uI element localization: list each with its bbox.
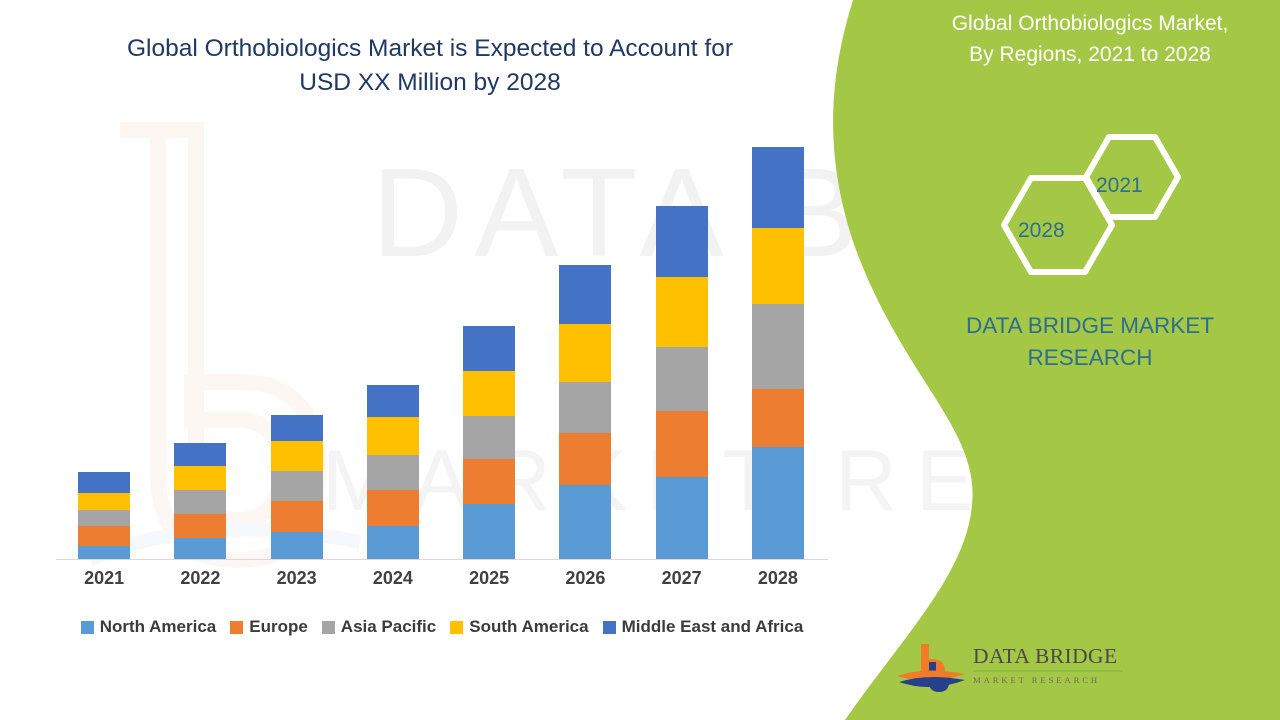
bar-segment (271, 415, 323, 440)
bar-segment (174, 443, 226, 466)
x-axis-labels: 20212022202320242025202620272028 (56, 568, 828, 598)
bar-segment (656, 347, 708, 411)
chart-title: Global Orthobiologics Market is Expected… (40, 32, 820, 100)
stacked-bar[interactable] (752, 147, 804, 560)
hexagon-group: 2021 2028 (900, 130, 1280, 285)
brand-name-text: DATA BRIDGE MARKET RESEARCH (900, 310, 1280, 374)
legend-swatch-icon (322, 621, 335, 634)
x-axis-tick-label: 2028 (738, 568, 818, 589)
legend-label: North America (100, 617, 217, 637)
bar-segment (367, 526, 419, 560)
legend-swatch-icon (81, 621, 94, 634)
x-axis-tick-label: 2025 (449, 568, 529, 589)
bar-segment (367, 455, 419, 490)
bar-segment (78, 546, 130, 560)
bar-segment (174, 514, 226, 538)
bar-segment (752, 389, 804, 448)
bar-segment (656, 477, 708, 560)
bar-segment (559, 485, 611, 560)
bar-segment (78, 526, 130, 546)
right-panel-title-line2: By Regions, 2021 to 2028 (900, 39, 1280, 70)
right-panel-title: Global Orthobiologics Market, By Regions… (900, 8, 1280, 70)
legend-label: South America (469, 617, 588, 637)
legend-swatch-icon (603, 621, 616, 634)
bar-segment (78, 510, 130, 525)
bar-segment (463, 416, 515, 459)
bar-segment (271, 501, 323, 532)
bar-segment (271, 532, 323, 560)
logo-mark-icon (895, 640, 967, 698)
logo-tagline: MARKET RESEARCH (973, 675, 1123, 685)
stacked-bar[interactable] (463, 326, 515, 560)
chart-legend: North AmericaEuropeAsia PacificSouth Ame… (56, 614, 828, 640)
brand-name-line1: DATA BRIDGE MARKET (966, 313, 1214, 338)
stacked-bar[interactable] (367, 385, 419, 560)
chart-title-line2: USD XX Million by 2028 (40, 66, 820, 100)
bar-segment (656, 411, 708, 477)
x-axis-tick-label: 2026 (545, 568, 625, 589)
bar-segment (559, 433, 611, 485)
bar-segment (174, 490, 226, 513)
legend-label: Middle East and Africa (622, 617, 804, 637)
brand-name-line2: RESEARCH (900, 342, 1280, 374)
hexagon-2028-label: 2028 (1018, 219, 1065, 243)
stacked-bar[interactable] (271, 415, 323, 560)
bar-segment (656, 277, 708, 347)
x-axis-tick-label: 2021 (64, 568, 144, 589)
bar-segment (752, 447, 804, 560)
bar-segment (559, 382, 611, 433)
x-axis-tick-label: 2027 (642, 568, 722, 589)
legend-label: Asia Pacific (341, 617, 436, 637)
bar-segment (78, 493, 130, 511)
bar-segment (367, 385, 419, 417)
hexagon-2021-label: 2021 (1096, 174, 1143, 198)
legend-item[interactable]: Asia Pacific (322, 617, 436, 637)
bar-segment (271, 471, 323, 502)
stacked-bar[interactable] (78, 472, 130, 560)
bar-segment (367, 417, 419, 455)
x-axis-tick-label: 2022 (160, 568, 240, 589)
stacked-bar[interactable] (656, 206, 708, 560)
bar-segment (752, 147, 804, 229)
bar-segment (463, 459, 515, 503)
bar-segment (367, 490, 419, 525)
bar-segment (752, 304, 804, 389)
bar-segment (174, 538, 226, 560)
bar-segment (463, 371, 515, 416)
logo-name: DATA BRIDGE (973, 644, 1123, 669)
stacked-bar-plot (56, 140, 826, 560)
bar-segment (78, 472, 130, 493)
right-panel-title-line1: Global Orthobiologics Market, (952, 12, 1229, 35)
logo-underline (973, 670, 1123, 672)
bar-segment (656, 206, 708, 277)
legend-item[interactable]: Middle East and Africa (603, 617, 804, 637)
bar-segment (174, 466, 226, 490)
data-bridge-logo: DATA BRIDGE MARKET RESEARCH (895, 638, 1125, 700)
x-axis-line (56, 559, 828, 560)
legend-item[interactable]: North America (81, 617, 217, 637)
x-axis-tick-label: 2023 (257, 568, 337, 589)
bar-segment (752, 228, 804, 303)
legend-label: Europe (249, 617, 308, 637)
bar-segment (559, 324, 611, 383)
stacked-bar[interactable] (559, 265, 611, 560)
stacked-bar[interactable] (174, 443, 226, 560)
legend-item[interactable]: Europe (230, 617, 308, 637)
legend-swatch-icon (450, 621, 463, 634)
chart-panel: Global Orthobiologics Market is Expected… (0, 0, 855, 720)
x-axis-tick-label: 2024 (353, 568, 433, 589)
slide-canvas: DATA BRIDGE MARKET RESEARCH Global Ortho… (0, 0, 1280, 720)
bar-segment (559, 265, 611, 324)
bar-segment (463, 504, 515, 560)
bar-segment (463, 326, 515, 371)
logo-wordmark: DATA BRIDGE MARKET RESEARCH (973, 644, 1123, 685)
chart-title-line1: Global Orthobiologics Market is Expected… (127, 35, 733, 62)
green-panel-content: Global Orthobiologics Market, By Regions… (900, 0, 1280, 720)
legend-swatch-icon (230, 621, 243, 634)
bar-segment (271, 441, 323, 471)
legend-item[interactable]: South America (450, 617, 588, 637)
